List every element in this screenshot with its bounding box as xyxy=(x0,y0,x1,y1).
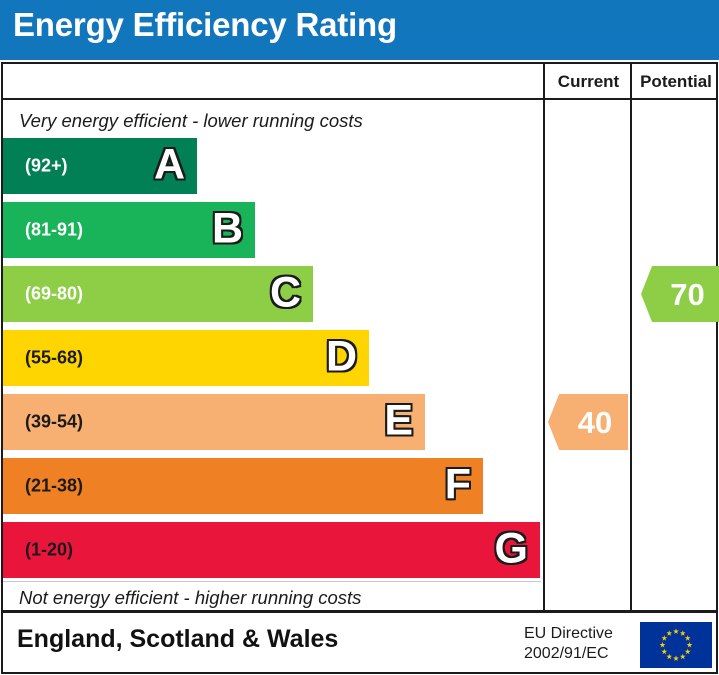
footer-directive-line1: EU Directive xyxy=(524,624,613,644)
band-range-c: (69-80) xyxy=(25,284,83,305)
band-letter-c: C xyxy=(270,272,301,315)
band-bar-c: (69-80)C xyxy=(3,266,313,322)
band-bar-b: (81-91)B xyxy=(3,202,255,258)
band-letter-g: G xyxy=(495,528,528,571)
rating-value-current: 40 xyxy=(564,407,612,438)
rating-badge-current: 40 xyxy=(548,394,628,450)
band-bar-a: (92+)A xyxy=(3,138,197,194)
eu-flag-icon xyxy=(640,622,712,668)
band-bar-e: (39-54)E xyxy=(3,394,425,450)
caption-very-energy-efficient: Very energy efficient - lower running co… xyxy=(19,110,363,132)
column-divider-potential xyxy=(630,64,632,610)
band-letter-d: D xyxy=(326,336,357,379)
caption-not-energy-efficient: Not energy efficient - higher running co… xyxy=(19,587,361,609)
chart-header-bar: Energy Efficiency Rating xyxy=(0,0,719,60)
page-title: Energy Efficiency Rating xyxy=(13,6,397,44)
band-bar-d: (55-68)D xyxy=(3,330,369,386)
band-range-f: (21-38) xyxy=(25,476,83,497)
band-range-e: (39-54) xyxy=(25,412,83,433)
column-divider-current xyxy=(543,64,545,610)
band-range-b: (81-91) xyxy=(25,220,83,241)
band-letter-b: B xyxy=(212,208,243,251)
rating-badge-potential: 70 xyxy=(641,266,719,322)
chart-body: Current Potential Very energy efficient … xyxy=(1,62,718,612)
band-bar-g: (1-20)G xyxy=(3,522,540,578)
chart-footer: England, Scotland & Wales EU Directive 2… xyxy=(1,611,718,674)
band-letter-e: E xyxy=(384,400,413,443)
band-letter-f: F xyxy=(445,464,471,507)
column-header-current: Current xyxy=(545,72,632,92)
band-range-d: (55-68) xyxy=(25,348,83,369)
band-letter-a: A xyxy=(154,144,185,187)
band-range-g: (1-20) xyxy=(25,540,73,561)
footer-directive-line2: 2002/91/EC xyxy=(524,644,613,664)
caption-divider xyxy=(3,581,541,582)
rating-value-potential: 70 xyxy=(656,279,704,310)
footer-directive: EU Directive 2002/91/EC xyxy=(524,624,613,665)
band-bar-f: (21-38)F xyxy=(3,458,483,514)
band-range-a: (92+) xyxy=(25,156,68,177)
footer-region-label: England, Scotland & Wales xyxy=(17,625,338,654)
column-header-row: Current Potential xyxy=(3,64,716,100)
column-header-potential: Potential xyxy=(632,72,719,92)
energy-efficiency-rating-certificate: Energy Efficiency Rating Current Potenti… xyxy=(0,0,719,675)
